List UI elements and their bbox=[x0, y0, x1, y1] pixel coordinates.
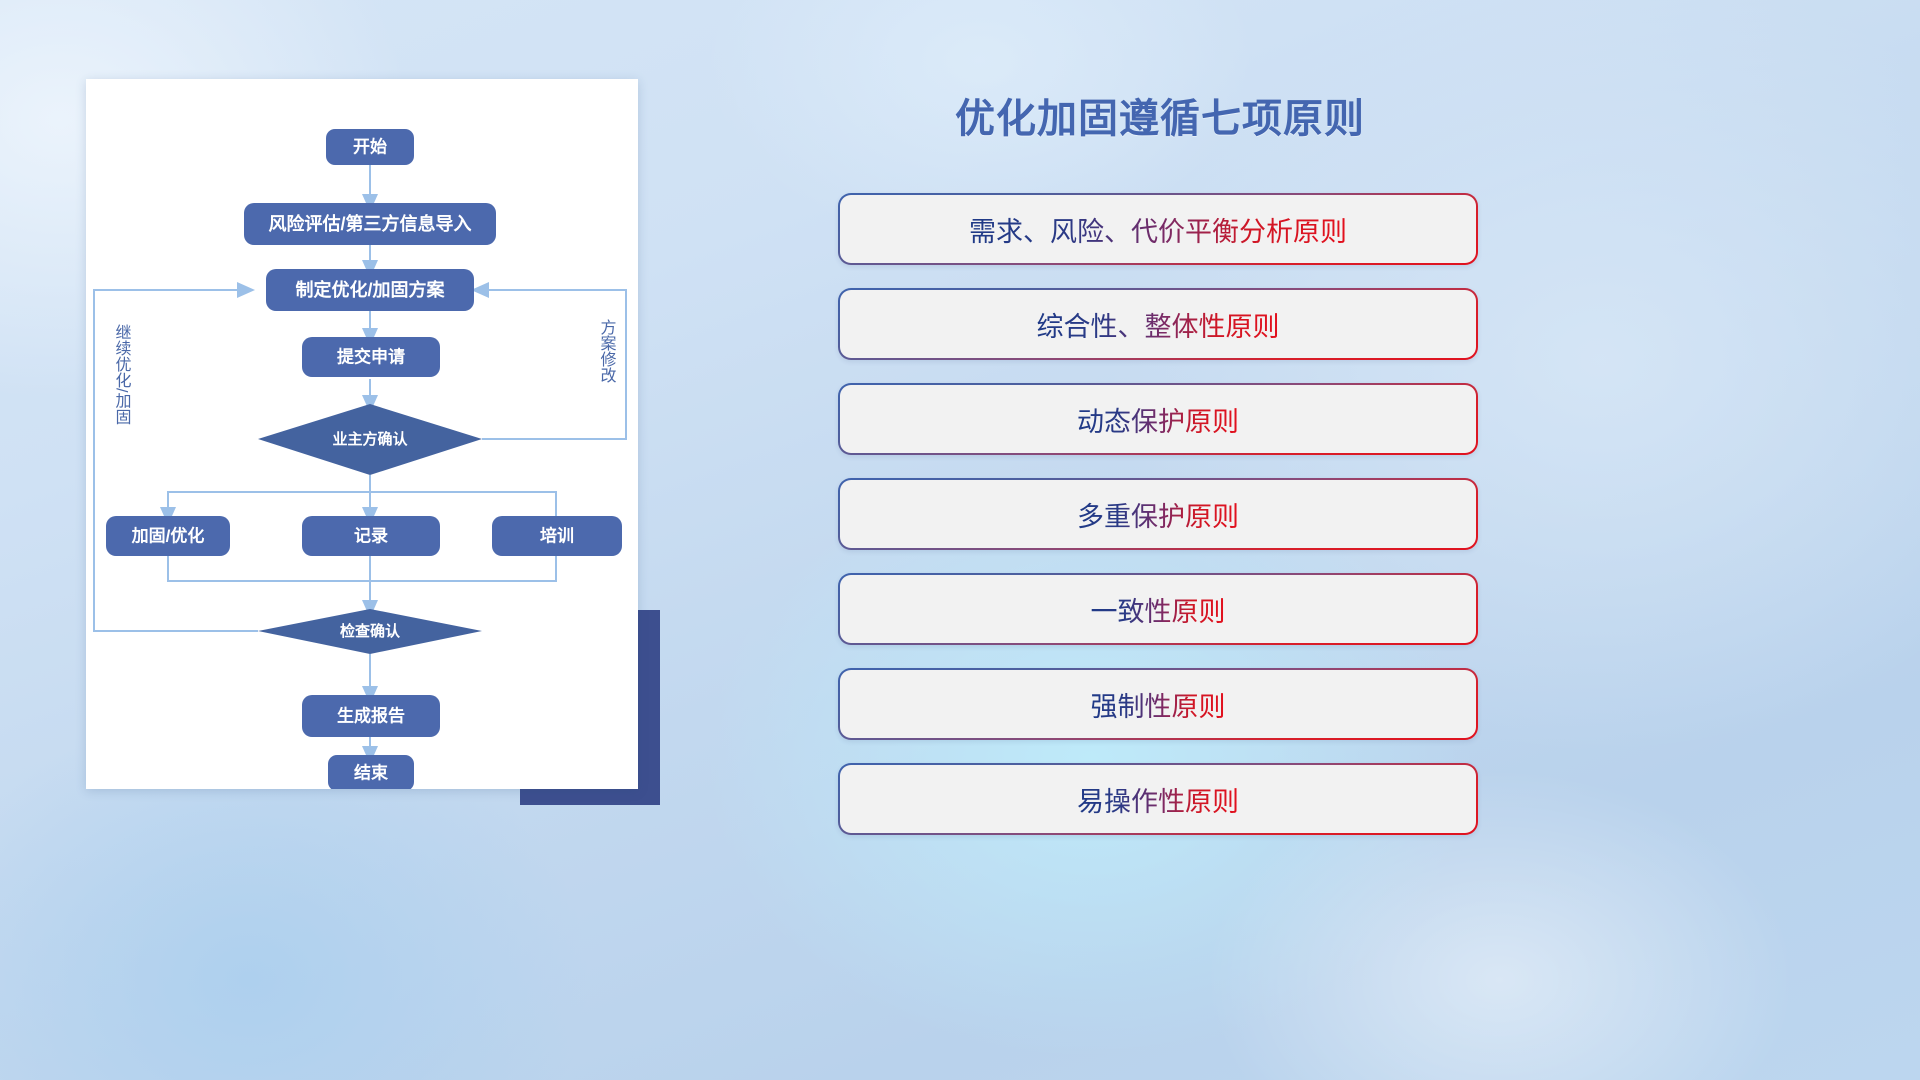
node-submit[interactable]: 提交申请 bbox=[302, 337, 440, 377]
node-plan-label: 制定优化/加固方案 bbox=[295, 279, 445, 300]
node-submit-label: 提交申请 bbox=[337, 346, 405, 366]
node-start[interactable]: 开始 bbox=[326, 129, 414, 165]
edge-label-continue-optimize: 继续优化/加固 bbox=[113, 324, 132, 425]
node-reinforce-label: 加固/优化 bbox=[131, 525, 205, 545]
node-training-label: 培训 bbox=[540, 525, 574, 545]
edge-owner-reinforce bbox=[168, 492, 370, 516]
principle-card-6-inner: 强制性原则 bbox=[840, 670, 1476, 738]
edge-label-plan-revision: 方案修改 bbox=[598, 319, 617, 383]
edge-branches-merge bbox=[168, 556, 556, 581]
principle-card-7-inner: 易操作性原则 bbox=[840, 765, 1476, 833]
flowchart-panel: 开始 风险评估/第三方信息导入 制定优化/加固方案 提交申请 业主方确认 加固/… bbox=[86, 79, 638, 789]
node-start-label: 开始 bbox=[353, 136, 387, 156]
principle-card-7-label: 易操作性原则 bbox=[1077, 780, 1239, 819]
node-plan[interactable]: 制定优化/加固方案 bbox=[266, 269, 474, 311]
principle-card-5-label: 一致性原则 bbox=[1091, 590, 1226, 629]
edge-owner-train bbox=[370, 492, 556, 516]
principle-card-7[interactable]: 易操作性原则 bbox=[838, 763, 1478, 835]
principle-card-1[interactable]: 需求、风险、代价平衡分析原则 bbox=[838, 193, 1478, 265]
node-report-label: 生成报告 bbox=[337, 705, 405, 725]
principle-card-5-inner: 一致性原则 bbox=[840, 575, 1476, 643]
principle-card-4-inner: 多重保护原则 bbox=[840, 480, 1476, 548]
node-owner-confirm[interactable]: 业主方确认 bbox=[258, 404, 482, 475]
page-title: 优化加固遵循七项原则 bbox=[835, 86, 1485, 144]
principles-list: 需求、风险、代价平衡分析原则 综合性、整体性原则 动态保护原则 多重保护原则 一… bbox=[838, 193, 1478, 858]
principle-card-6-label: 强制性原则 bbox=[1091, 685, 1226, 724]
principle-card-1-inner: 需求、风险、代价平衡分析原则 bbox=[840, 195, 1476, 263]
principle-card-4[interactable]: 多重保护原则 bbox=[838, 478, 1478, 550]
principle-card-2[interactable]: 综合性、整体性原则 bbox=[838, 288, 1478, 360]
principle-card-2-label: 综合性、整体性原则 bbox=[1037, 305, 1280, 344]
node-check-confirm[interactable]: 检查确认 bbox=[258, 609, 482, 654]
principle-card-3[interactable]: 动态保护原则 bbox=[838, 383, 1478, 455]
principle-card-3-label: 动态保护原则 bbox=[1077, 400, 1239, 439]
principle-card-4-label: 多重保护原则 bbox=[1077, 495, 1239, 534]
node-training[interactable]: 培训 bbox=[492, 516, 622, 556]
node-risk-assessment-label: 风险评估/第三方信息导入 bbox=[269, 213, 472, 234]
principle-card-1-label: 需求、风险、代价平衡分析原则 bbox=[969, 210, 1347, 249]
principle-card-2-inner: 综合性、整体性原则 bbox=[840, 290, 1476, 358]
node-owner-confirm-label: 业主方确认 bbox=[332, 430, 408, 448]
node-end[interactable]: 结束 bbox=[328, 755, 414, 789]
node-record-label: 记录 bbox=[354, 526, 388, 545]
node-risk-assessment[interactable]: 风险评估/第三方信息导入 bbox=[244, 203, 496, 245]
principle-card-6[interactable]: 强制性原则 bbox=[838, 668, 1478, 740]
page-title-text: 优化加固遵循七项原则 bbox=[955, 86, 1365, 144]
flowchart-svg: 开始 风险评估/第三方信息导入 制定优化/加固方案 提交申请 业主方确认 加固/… bbox=[86, 79, 638, 789]
node-check-confirm-label: 检查确认 bbox=[340, 622, 401, 640]
principle-card-3-inner: 动态保护原则 bbox=[840, 385, 1476, 453]
node-report[interactable]: 生成报告 bbox=[302, 695, 440, 737]
node-end-label: 结束 bbox=[354, 762, 388, 782]
node-reinforce[interactable]: 加固/优化 bbox=[106, 516, 230, 556]
principle-card-5[interactable]: 一致性原则 bbox=[838, 573, 1478, 645]
node-record[interactable]: 记录 bbox=[302, 516, 440, 556]
